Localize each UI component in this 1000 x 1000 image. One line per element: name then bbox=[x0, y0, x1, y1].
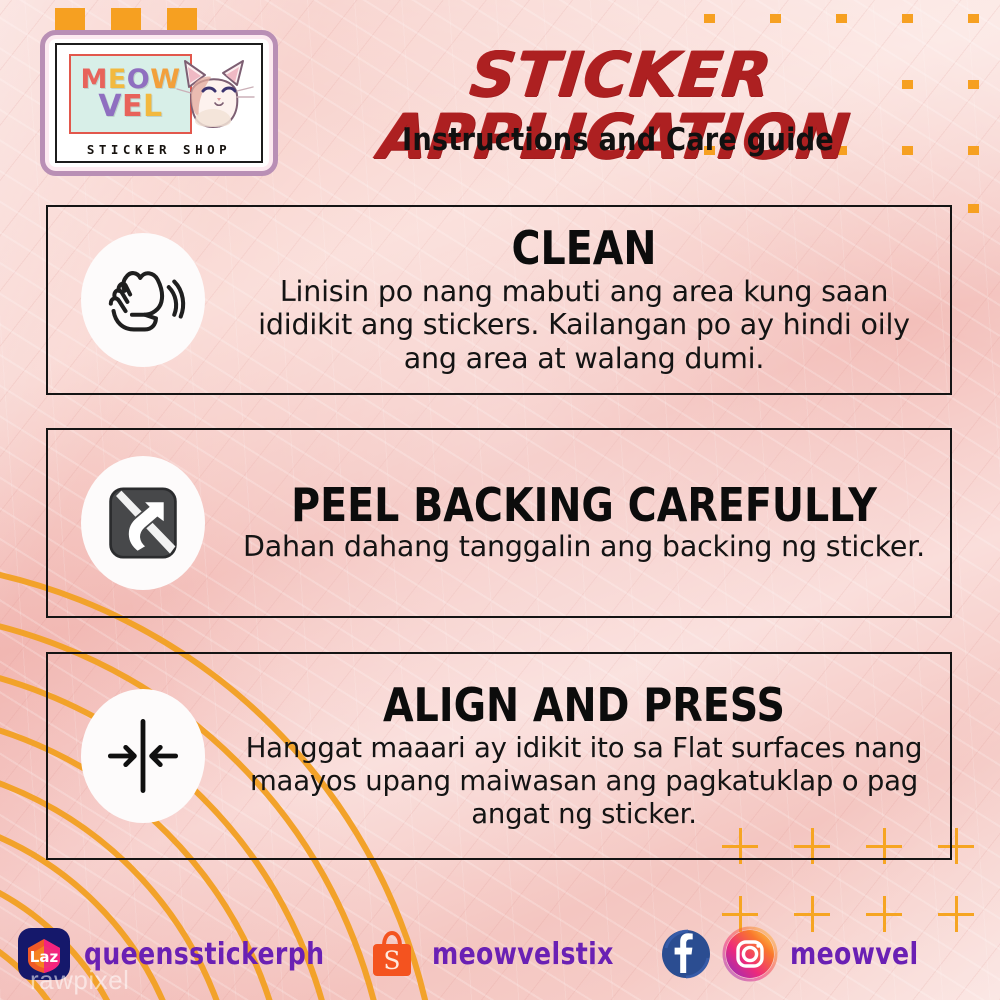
panel-description: Linisin po nang mabuti ang area kung saa… bbox=[238, 275, 930, 375]
panel-description: Dahan dahang tanggalin ang backing ng st… bbox=[238, 530, 930, 563]
instagram-icon[interactable] bbox=[722, 926, 778, 982]
instruction-panel-peel: PEEL BACKING CAREFULLY Dahan dahang tang… bbox=[46, 428, 952, 618]
panel-body: CLEAN Linisin po nang mabuti ang area ku… bbox=[238, 225, 950, 375]
instruction-panel-align: ALIGN AND PRESS Hanggat maaari ay idikit… bbox=[46, 652, 952, 860]
panel-heading: CLEAN bbox=[286, 225, 881, 271]
panel-icon-wrap bbox=[48, 689, 238, 823]
instruction-panel-clean: CLEAN Linisin po nang mabuti ang area ku… bbox=[46, 205, 952, 395]
svg-text:Laz: Laz bbox=[30, 948, 59, 966]
panel-heading: PEEL BACKING CAREFULLY bbox=[286, 482, 881, 528]
cat-face-icon bbox=[171, 51, 255, 133]
social-handle: meowvelstix bbox=[432, 937, 614, 972]
panel-icon-wrap bbox=[48, 233, 238, 367]
align-center-arrows-icon bbox=[81, 689, 205, 823]
page-subtitle: Instructions and Care guide bbox=[310, 122, 926, 158]
shopee-icon[interactable]: S bbox=[364, 926, 420, 982]
watermark: rawpixel bbox=[30, 965, 129, 996]
peel-backing-corner-arrow-icon bbox=[81, 456, 205, 590]
logo-tagline: STICKER SHOP bbox=[57, 142, 261, 157]
logo-letter: E bbox=[122, 93, 143, 122]
social-facebook[interactable] bbox=[658, 926, 714, 982]
facebook-icon[interactable] bbox=[658, 926, 714, 982]
social-footer-bar: Laz queensstickerph S meowvelstix bbox=[0, 908, 1000, 1000]
svg-text:S: S bbox=[384, 946, 401, 975]
social-shopee[interactable]: S meowvelstix bbox=[364, 926, 648, 982]
logo-letter: V bbox=[98, 93, 122, 122]
logo-wordmark-line2: V E L bbox=[98, 93, 162, 122]
panel-heading: ALIGN AND PRESS bbox=[286, 682, 881, 728]
social-instagram[interactable]: meowvel bbox=[722, 926, 943, 982]
social-handle: meowvel bbox=[790, 937, 918, 972]
panel-body: ALIGN AND PRESS Hanggat maaari ay idikit… bbox=[238, 682, 950, 831]
logo-inner-frame: M E O W V E L bbox=[55, 43, 263, 163]
panel-body: PEEL BACKING CAREFULLY Dahan dahang tang… bbox=[238, 482, 950, 563]
panel-description: Hanggat maaari ay idikit ito sa Flat sur… bbox=[238, 732, 930, 831]
hand-wiping-cloth-icon bbox=[81, 233, 205, 367]
brand-logo-card: M E O W V E L bbox=[40, 30, 278, 176]
panel-icon-wrap bbox=[48, 456, 238, 590]
poster-canvas: M E O W V E L bbox=[0, 0, 1000, 1000]
logo-letter: L bbox=[143, 93, 163, 122]
